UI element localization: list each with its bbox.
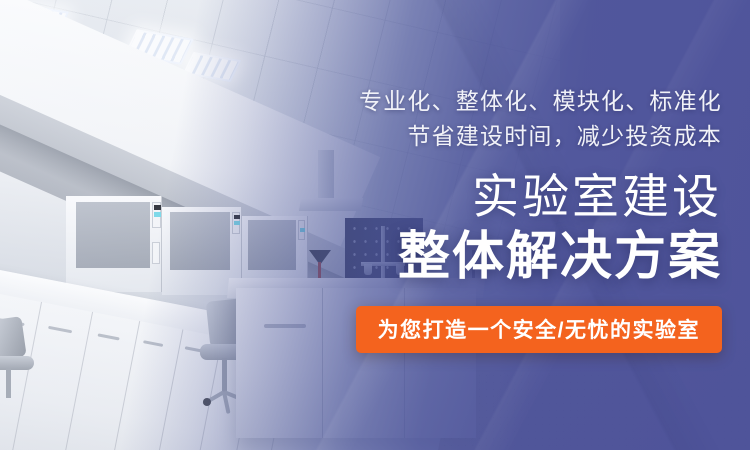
headline-line-2: 整体解决方案	[302, 226, 722, 288]
banner-text-block: 专业化、整体化、模块化、标准化 节省建设时间，减少投资成本 实验室建设 整体解决…	[302, 84, 722, 353]
headline-line-1: 实验室建设	[302, 168, 722, 226]
cta-button[interactable]: 为您打造一个安全/无忧的实验室	[356, 306, 722, 353]
cta-container: 为您打造一个安全/无忧的实验室	[302, 306, 722, 353]
lab-solution-banner: 专业化、整体化、模块化、标准化 节省建设时间，减少投资成本 实验室建设 整体解决…	[0, 0, 750, 450]
kicker-line-2: 节省建设时间，减少投资成本	[302, 119, 722, 154]
kicker-line-1: 专业化、整体化、模块化、标准化	[302, 84, 722, 119]
